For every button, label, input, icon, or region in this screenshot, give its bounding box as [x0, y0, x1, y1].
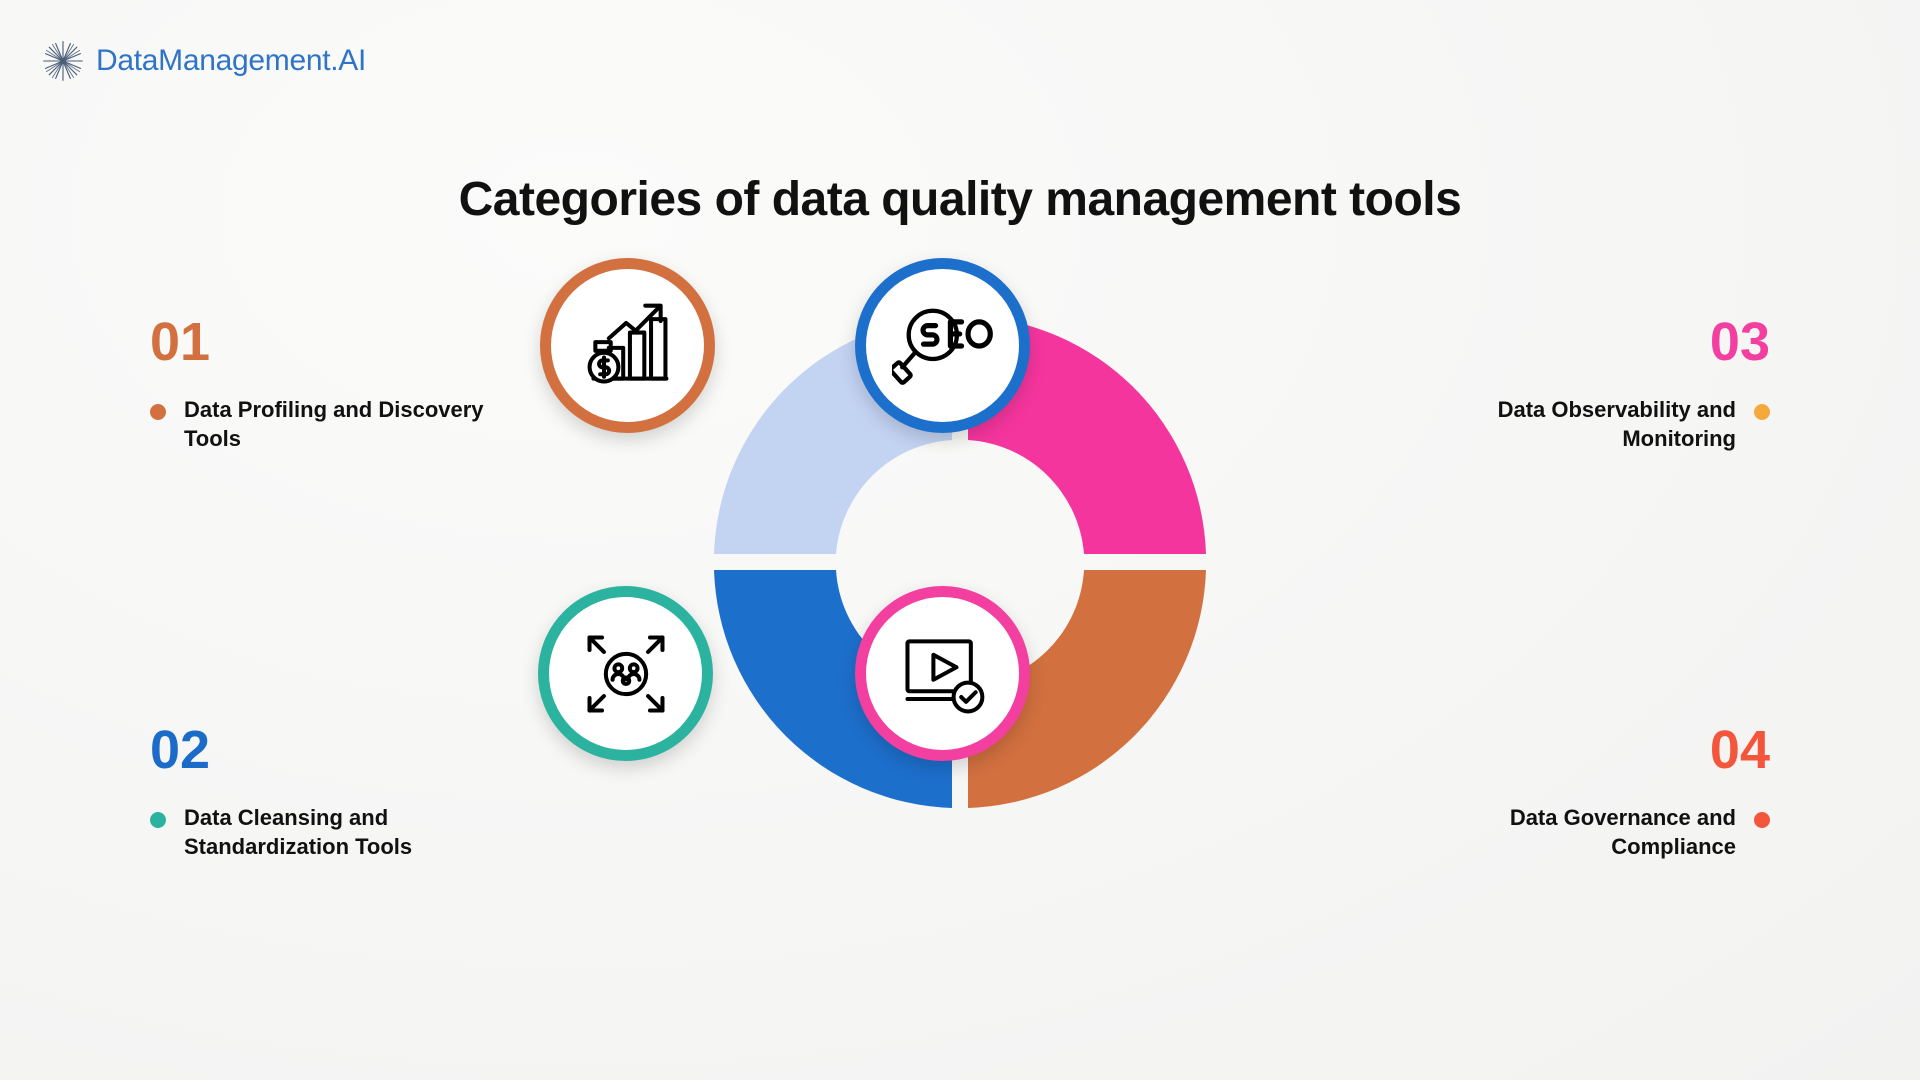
bullet-01	[150, 404, 166, 420]
item-label-01: Data Profiling and Discovery Tools	[184, 395, 484, 453]
item-number-01: 01	[150, 315, 580, 369]
bar-chart-growth-dollar-icon	[580, 298, 676, 394]
brand-logo[interactable]: DataManagement.AI	[40, 38, 366, 84]
icon-badge-governance[interactable]	[855, 586, 1030, 761]
legend-item-01[interactable]: 01 Data Profiling and Discovery Tools	[150, 315, 580, 453]
video-play-verified-icon	[895, 626, 991, 722]
legend-item-02[interactable]: 02 Data Cleansing and Standardization To…	[150, 723, 580, 861]
bullet-04	[1754, 812, 1770, 828]
item-label-04: Data Governance and Compliance	[1436, 803, 1736, 861]
item-label-02: Data Cleansing and Standardization Tools	[184, 803, 484, 861]
item-number-04: 04	[1340, 723, 1770, 777]
starburst-icon	[40, 38, 86, 84]
brand-name: DataManagement.AI	[96, 44, 366, 78]
people-expand-arrows-icon	[578, 626, 674, 722]
page-title: Categories of data quality management to…	[0, 172, 1920, 227]
legend-item-04[interactable]: 04 Data Governance and Compliance	[1340, 723, 1770, 861]
legend-item-03[interactable]: 03 Data Observability and Monitoring	[1340, 315, 1770, 453]
item-number-02: 02	[150, 723, 580, 777]
seo-magnifier-icon	[892, 295, 994, 397]
item-number-03: 03	[1340, 315, 1770, 369]
bullet-02	[150, 812, 166, 828]
bullet-03	[1754, 404, 1770, 420]
item-label-03: Data Observability and Monitoring	[1436, 395, 1736, 453]
icon-badge-observability[interactable]	[855, 258, 1030, 433]
